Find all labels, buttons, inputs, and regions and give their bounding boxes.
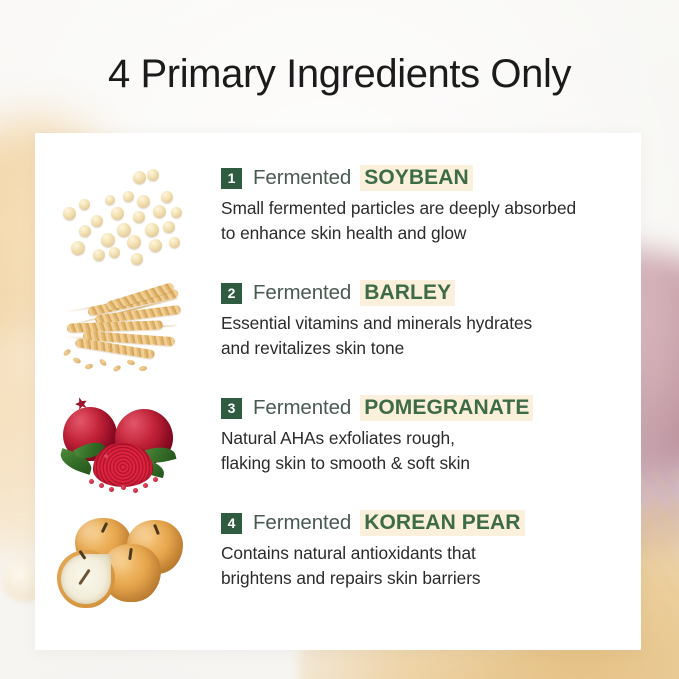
ingredient-name: SOYBEAN bbox=[360, 165, 473, 191]
page-title: 4 Primary Ingredients Only bbox=[0, 49, 679, 99]
ingredients-card: 1 Fermented SOYBEAN Small fermented part… bbox=[35, 133, 641, 650]
barley-photo bbox=[49, 276, 204, 388]
description-line-2: to enhance skin health and glow bbox=[221, 221, 576, 246]
ingredient-name: POMEGRANATE bbox=[360, 395, 533, 421]
ingredient-description: Contains natural antioxidants that brigh… bbox=[221, 541, 525, 591]
ingredient-prefix: Fermented bbox=[253, 166, 351, 190]
ingredient-text-block: 3 Fermented POMEGRANATE Natural AHAs exf… bbox=[204, 391, 533, 476]
ingredient-description: Natural AHAs exfoliates rough, flaking s… bbox=[221, 426, 533, 476]
description-line-1: Contains natural antioxidants that bbox=[221, 541, 525, 566]
ingredient-text-block: 1 Fermented SOYBEAN Small fermented part… bbox=[204, 161, 576, 246]
ingredient-number-badge: 2 bbox=[221, 283, 242, 304]
description-line-2: flaking skin to smooth & soft skin bbox=[221, 451, 533, 476]
soybean-photo bbox=[49, 161, 204, 273]
list-item: 4 Fermented KOREAN PEAR Contains natural… bbox=[35, 506, 641, 621]
list-item: 3 Fermented POMEGRANATE Natural AHAs exf… bbox=[35, 391, 641, 506]
ingredient-heading: 2 Fermented BARLEY bbox=[221, 280, 532, 306]
description-line-2: and revitalizes skin tone bbox=[221, 336, 532, 361]
list-item: 1 Fermented SOYBEAN Small fermented part… bbox=[35, 161, 641, 276]
ingredient-description: Essential vitamins and minerals hydrates… bbox=[221, 311, 532, 361]
ingredient-prefix: Fermented bbox=[253, 281, 351, 305]
ingredient-name: KOREAN PEAR bbox=[360, 510, 524, 536]
ingredient-heading: 4 Fermented KOREAN PEAR bbox=[221, 510, 525, 536]
pomegranate-photo bbox=[49, 391, 204, 503]
ingredient-text-block: 2 Fermented BARLEY Essential vitamins an… bbox=[204, 276, 532, 361]
ingredient-name: BARLEY bbox=[360, 280, 455, 306]
ingredient-number-badge: 1 bbox=[221, 168, 242, 189]
description-line-1: Natural AHAs exfoliates rough, bbox=[221, 426, 533, 451]
ingredient-text-block: 4 Fermented KOREAN PEAR Contains natural… bbox=[204, 506, 525, 591]
korean-pear-photo bbox=[49, 506, 204, 618]
list-item: 2 Fermented BARLEY Essential vitamins an… bbox=[35, 276, 641, 391]
description-line-1: Small fermented particles are deeply abs… bbox=[221, 196, 576, 221]
ingredient-heading: 1 Fermented SOYBEAN bbox=[221, 165, 576, 191]
ingredients-list: 1 Fermented SOYBEAN Small fermented part… bbox=[35, 161, 641, 621]
ingredient-heading: 3 Fermented POMEGRANATE bbox=[221, 395, 533, 421]
ingredient-description: Small fermented particles are deeply abs… bbox=[221, 196, 576, 246]
description-line-1: Essential vitamins and minerals hydrates bbox=[221, 311, 532, 336]
ingredient-prefix: Fermented bbox=[253, 396, 351, 420]
ingredient-number-badge: 3 bbox=[221, 398, 242, 419]
description-line-2: brightens and repairs skin barriers bbox=[221, 566, 525, 591]
ingredient-number-badge: 4 bbox=[221, 513, 242, 534]
ingredient-prefix: Fermented bbox=[253, 511, 351, 535]
